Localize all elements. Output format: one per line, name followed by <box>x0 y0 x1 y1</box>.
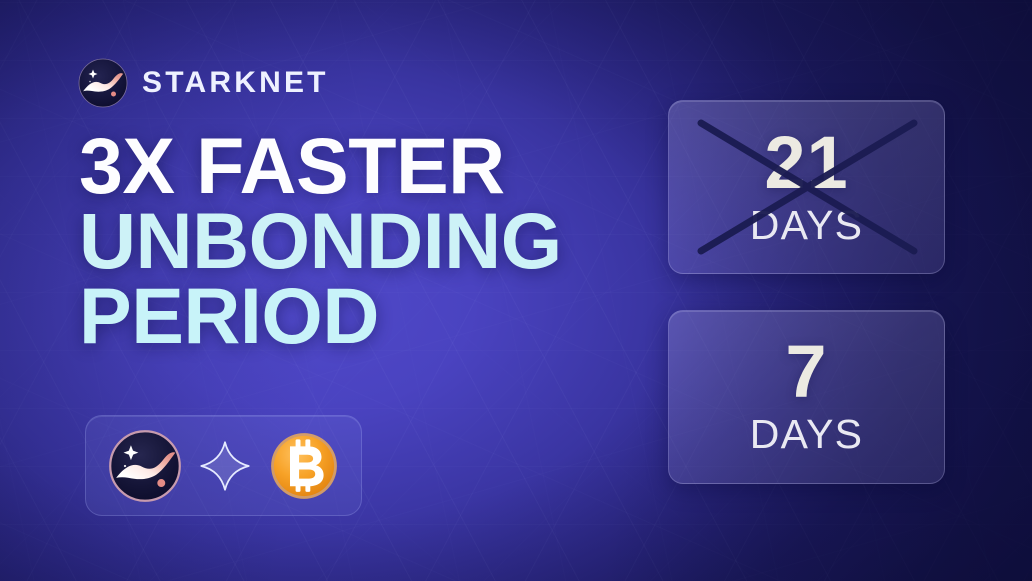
card-number: 21 <box>764 127 848 198</box>
starknet-logo-icon <box>108 429 182 503</box>
card-number: 7 <box>785 336 827 407</box>
bitcoin-coin-icon <box>269 431 339 501</box>
partner-badge-strip <box>85 415 362 516</box>
four-pointed-star-icon <box>198 439 252 493</box>
headline-line-1: 3X FASTER <box>79 128 679 203</box>
starknet-logo-badge-svg <box>108 429 182 503</box>
headline-line-3: PERIOD <box>79 278 679 353</box>
headline: 3X FASTER UNBONDING PERIOD <box>79 128 679 353</box>
four-pointed-star-svg <box>198 439 252 493</box>
bitcoin-coin-svg <box>269 431 339 501</box>
promo-banner: STARKNET 3X FASTER UNBONDING PERIOD <box>0 0 1032 581</box>
brand-lockup: STARKNET <box>78 58 329 108</box>
starknet-swoosh-logo-svg <box>78 58 128 108</box>
starknet-logo-icon <box>78 58 128 108</box>
unbonding-card-new: 7 DAYS <box>668 310 945 484</box>
brand-name: STARKNET <box>142 66 329 100</box>
card-unit: DAYS <box>750 202 863 249</box>
card-unit: DAYS <box>750 411 863 458</box>
unbonding-card-old: 21 DAYS <box>668 100 945 274</box>
headline-line-2: UNBONDING <box>79 203 679 278</box>
